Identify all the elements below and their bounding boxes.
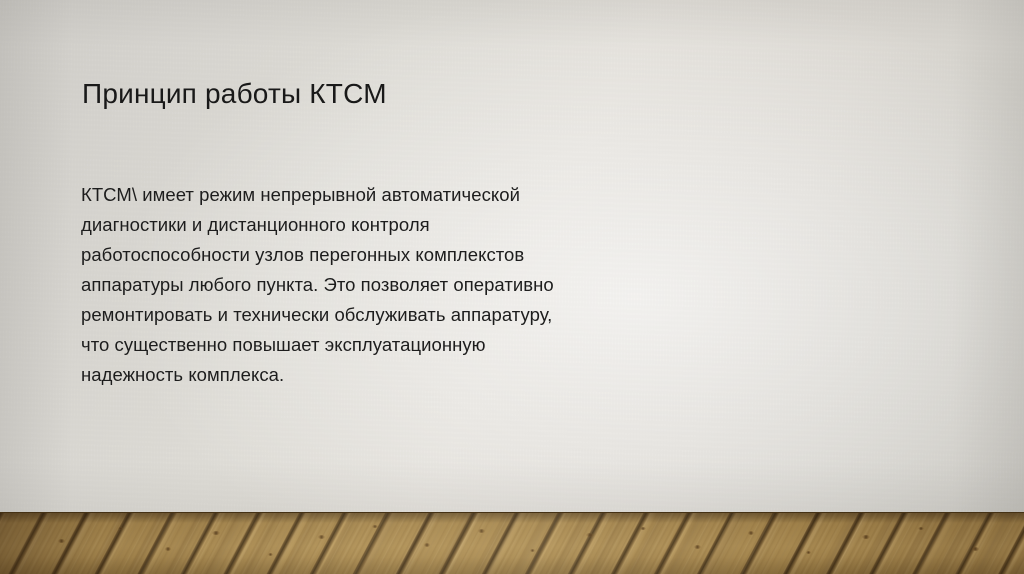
slide-body-text: КТСМ\ имеет режим непрерывной автоматиче… <box>81 180 641 390</box>
presentation-slide: Принцип работы КТСМ КТСМ\ имеет режим не… <box>0 0 1024 574</box>
body-line: ремонтировать и технически обслуживать а… <box>81 300 641 330</box>
slide-title: Принцип работы КТСМ <box>82 78 387 110</box>
floor-wood-grain <box>0 513 1024 574</box>
body-line: диагностики и дистанционного контроля <box>81 210 641 240</box>
body-line: КТСМ\ имеет режим непрерывной автоматиче… <box>81 180 641 210</box>
body-line: работоспособности узлов перегонных компл… <box>81 240 641 270</box>
body-line: что существенно повышает эксплуатационну… <box>81 330 641 360</box>
wooden-floor <box>0 513 1024 574</box>
body-line: аппаратуры любого пункта. Это позволяет … <box>81 270 641 300</box>
body-line: надежность комплекса. <box>81 360 641 390</box>
